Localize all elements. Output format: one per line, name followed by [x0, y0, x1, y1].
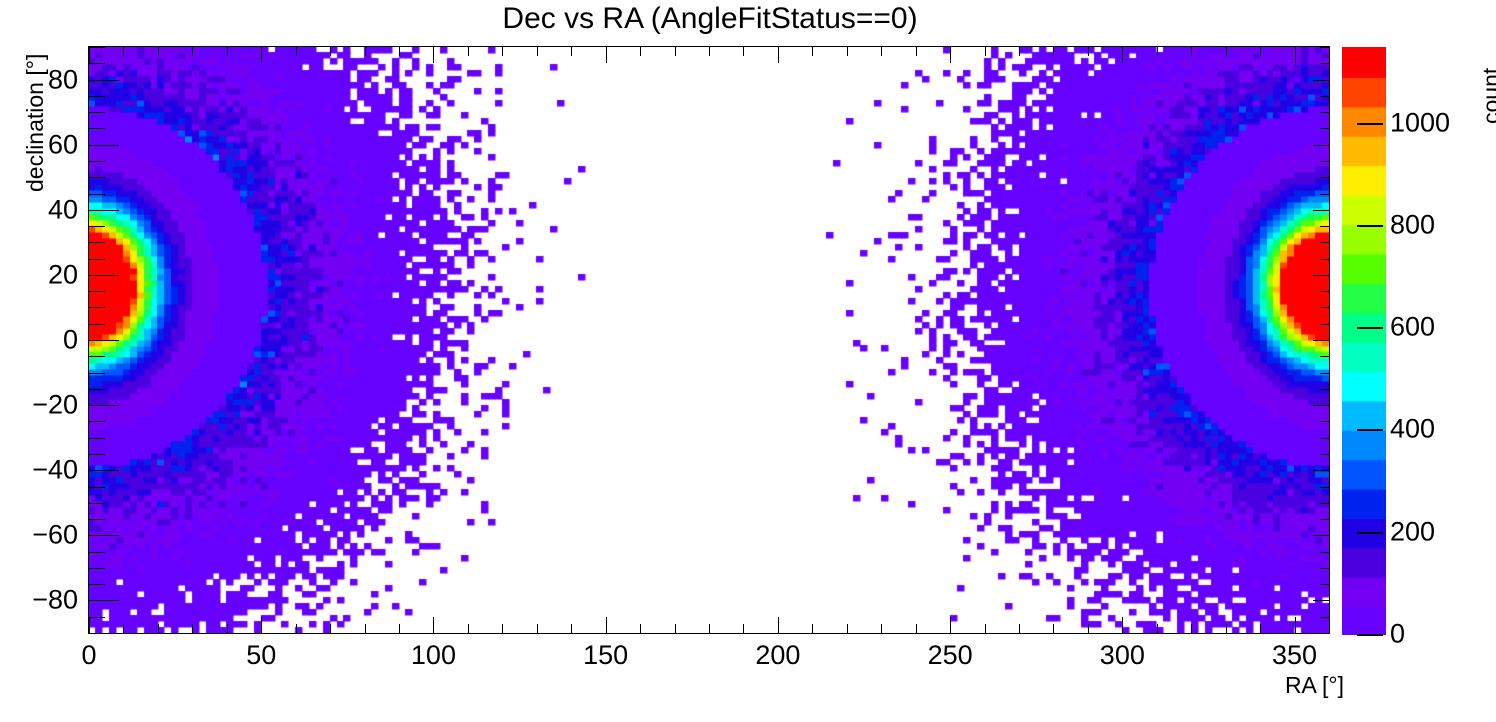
y-axis-label: 40 — [48, 194, 78, 225]
colorbar-label: 200 — [1390, 517, 1435, 548]
x-tick-top — [1329, 47, 1330, 56]
x-axis-label: 100 — [411, 640, 456, 671]
x-axis-title: RA [°] — [1285, 672, 1344, 699]
colorbar-tick — [1357, 634, 1383, 636]
colorbar-tick — [1357, 327, 1383, 329]
x-axis-label: 250 — [928, 640, 973, 671]
y-axis-label: −80 — [32, 585, 78, 616]
colorbar-label: 400 — [1390, 414, 1435, 445]
colorbar-canvas[interactable] — [1342, 47, 1386, 635]
y-axis-label: −40 — [32, 455, 78, 486]
y-axis-title: declination [°] — [22, 54, 49, 192]
colorbar-tick — [1357, 429, 1383, 431]
plot-frame[interactable] — [88, 46, 1330, 634]
x-axis-label: 150 — [583, 640, 628, 671]
histogram-canvas[interactable] — [89, 47, 1329, 633]
y-tick-left — [89, 633, 105, 634]
colorbar-label: 600 — [1390, 312, 1435, 343]
page-title: Dec vs RA (AngleFitStatus==0) — [0, 2, 1420, 36]
colorbar-label: 800 — [1390, 210, 1435, 241]
x-axis-label: 50 — [246, 640, 276, 671]
x-axis-label: 0 — [81, 640, 96, 671]
x-tick-bottom — [1329, 624, 1330, 633]
y-axis-label: 20 — [48, 259, 78, 290]
colorbar-label: 0 — [1390, 619, 1405, 650]
x-axis-label: 200 — [755, 640, 800, 671]
y-axis-label: 80 — [48, 64, 78, 95]
y-axis-label: −60 — [32, 520, 78, 551]
colorbar-tick — [1357, 123, 1383, 125]
plot-root: Dec vs RA (AngleFitStatus==0) 0501001502… — [0, 0, 1496, 722]
x-axis-label: 350 — [1272, 640, 1317, 671]
x-axis-label: 300 — [1100, 640, 1145, 671]
y-axis-label: −20 — [32, 390, 78, 421]
y-axis-label: 0 — [63, 325, 78, 356]
y-axis-label: 60 — [48, 129, 78, 160]
colorbar-tick — [1357, 225, 1383, 227]
colorbar-tick — [1357, 532, 1383, 534]
colorbar-label: 1000 — [1390, 108, 1450, 139]
y-tick-right — [1320, 633, 1329, 634]
colorbar-title: count — [1478, 68, 1496, 124]
colorbar[interactable] — [1341, 46, 1385, 634]
